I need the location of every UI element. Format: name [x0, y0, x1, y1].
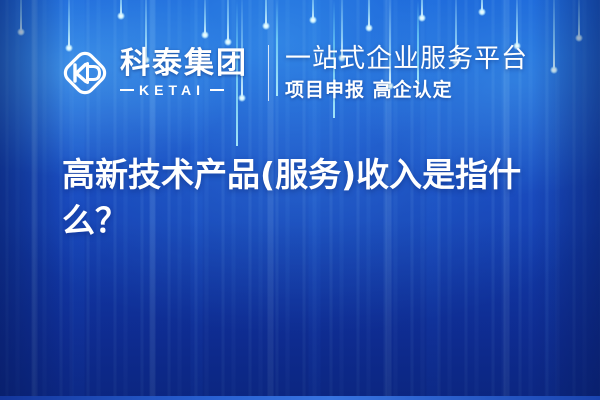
page-title: 高新技术产品(服务)收入是指什么？: [62, 152, 554, 244]
brand-name-en-row: KETAI: [120, 82, 248, 98]
header-divider: [268, 45, 269, 101]
brand-name-en: KETAI: [139, 82, 205, 98]
slogan-main: 一站式企业服务平台: [285, 44, 528, 74]
slogan-block: 一站式企业服务平台 项目申报 高企认定: [285, 44, 528, 102]
dash-right-icon: [210, 89, 224, 91]
brand-logo[interactable]: 科泰集团 KETAI: [60, 48, 248, 98]
ketai-diamond-kd-logo-icon: [60, 48, 110, 98]
slogan-sub: 项目申报 高企认定: [285, 78, 528, 102]
brand-name-cn: 科泰集团: [120, 48, 248, 80]
promo-banner: 科泰集团 KETAI 一站式企业服务平台 项目申报 高企认定 高新技术产品(服务…: [0, 0, 600, 400]
brand-wordmark: 科泰集团 KETAI: [120, 48, 248, 98]
banner-header: 科泰集团 KETAI 一站式企业服务平台 项目申报 高企认定: [0, 36, 600, 110]
dash-left-icon: [120, 89, 134, 91]
bottom-edge-highlight: [0, 396, 600, 400]
